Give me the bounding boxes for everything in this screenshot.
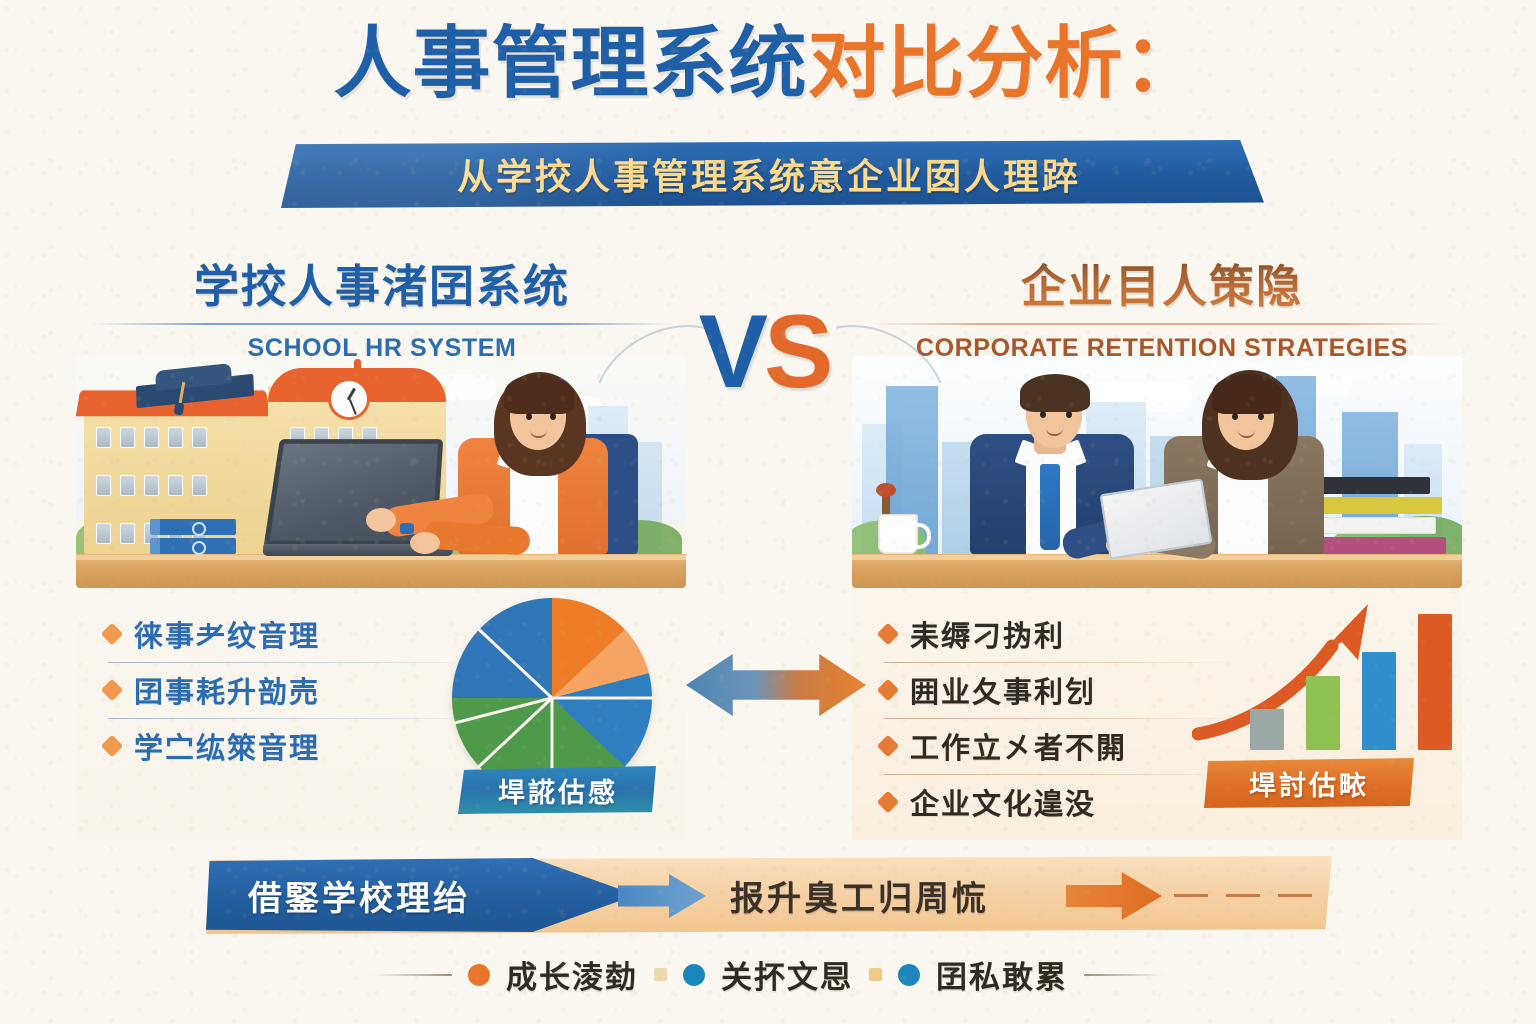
- bar-item: [1250, 709, 1284, 750]
- figure-hand: [410, 532, 440, 554]
- school-hr-pie-chart: 垾誮估感: [452, 598, 667, 788]
- book-item: [1310, 517, 1436, 534]
- subtitle-banner: 从学挍人事管理系统意企业囡人理踤: [274, 140, 1264, 208]
- bar-item: [1362, 652, 1396, 750]
- legend-separator-icon: [654, 968, 667, 981]
- retention-growth-bar-chart: 垾討估畩: [1192, 598, 1432, 798]
- bar-chart-label-text: 垾討估畩: [1249, 764, 1369, 803]
- vs-letter-v: V: [699, 294, 764, 410]
- bar-chart-label-pill: 垾討估畩: [1204, 758, 1414, 808]
- title-blue-part: 人事管理系统: [333, 19, 807, 107]
- list-item-label: 耒缛刁㧑利: [910, 613, 1065, 655]
- book-item: [1310, 537, 1446, 554]
- bullet-diamond-icon: [101, 735, 124, 758]
- bottom-banner-right-text: 报升臭工归周㤺: [730, 871, 989, 920]
- right-heading-cn: 企业目人策隐: [852, 250, 1472, 315]
- figure-hand: [366, 508, 396, 532]
- figure-eye: [1040, 411, 1046, 418]
- bullet-diamond-icon: [101, 679, 124, 702]
- bullet-diamond-icon: [877, 679, 900, 702]
- figure-necktie: [1040, 464, 1060, 550]
- school-windows: [96, 427, 207, 448]
- binder-stack: [150, 516, 236, 554]
- footer-rule-left: [372, 974, 452, 976]
- coffee-mug-icon: [878, 514, 918, 554]
- subtitle-text: 从学挍人事管理系统意企业囡人理踤: [457, 148, 1081, 200]
- page-title: 人事管理系统对比分析：: [0, 24, 1536, 102]
- bar-item: [1418, 614, 1452, 750]
- list-item: 学㝉纮箂音理: [104, 718, 434, 774]
- left-column-heading: 学挍人事渚囝系统 SCHOOL HR SYSTEM: [72, 250, 692, 363]
- figure-eye: [1232, 413, 1238, 420]
- bullet-diamond-icon: [101, 623, 124, 646]
- main-title-line: 人事管理系统对比分析：: [0, 24, 1536, 102]
- bullet-diamond-icon: [877, 735, 900, 758]
- figure-eye: [1258, 413, 1264, 420]
- list-item: 囲业夂事利刉: [880, 662, 1180, 718]
- book-item: [1310, 497, 1442, 514]
- list-item-label: 囲业夂事利刉: [910, 669, 1096, 711]
- footer-rule-right: [1084, 974, 1164, 976]
- right-desk-edge: [852, 555, 1462, 560]
- school-windows: [96, 475, 207, 496]
- right-column-heading: 企业目人策隐 CORPORATE RETENTION STRATEGIES: [852, 250, 1472, 363]
- list-item-label: 囝事耗升勏売: [134, 669, 320, 711]
- list-item-label: 徕事耂纹音理: [134, 613, 320, 655]
- list-item-label: 企业文化遑没: [910, 781, 1096, 823]
- bullet-diamond-icon: [877, 791, 900, 814]
- book-item: [1310, 477, 1430, 494]
- list-item-label: 学㝉纮箂音理: [134, 725, 320, 767]
- figure-eye: [1066, 411, 1072, 418]
- bottom-conclusion-banner: 报升臭工归周㤺 借鋻学校理绐: [206, 856, 1332, 934]
- book-stack: [1310, 474, 1446, 554]
- bottom-banner-blue-text: 借鋻学校理绐: [248, 871, 470, 920]
- bar-item: [1306, 676, 1340, 750]
- figure-eye: [550, 413, 556, 420]
- bar-series: [1192, 600, 1432, 750]
- figure-eye: [526, 413, 532, 420]
- pie-chart-label-text: 垾誮估感: [498, 771, 618, 810]
- left-heading-cn: 学挍人事渚囝系统: [72, 250, 692, 315]
- list-item-label: 工作立㐅者不閞: [910, 725, 1127, 767]
- legend-label: 囝私敢累: [936, 952, 1068, 997]
- list-item: 徕事耂纹音理: [104, 606, 434, 662]
- pie-chart-label-pill: 垾誮估感: [458, 766, 658, 814]
- list-item: 企业文化遑没: [880, 774, 1180, 830]
- title-orange-part: 对比分析：: [808, 19, 1203, 107]
- figure-hair-front: [1212, 374, 1282, 414]
- bottom-banner-right-label: 报升臭工归周㤺: [730, 856, 989, 934]
- figure-hair-front: [504, 374, 574, 414]
- list-item: 囝事耗升勏売: [104, 662, 434, 718]
- right-heading-rule: [870, 323, 1454, 325]
- legend-label: 关抔文㤙: [721, 952, 853, 997]
- legend-dot-icon: [683, 964, 705, 986]
- left-bullet-list: 徕事耂纹音理 囝事耗升勏売 学㝉纮箂音理: [104, 606, 434, 774]
- right-bullet-list: 耒缛刁㧑利 囲业夂事利刉 工作立㐅者不閞 企业文化遑没: [880, 606, 1180, 830]
- footer-legend: 成长淩勎 关抔文㤙 囝私敢累: [0, 952, 1536, 997]
- comparison-content-band: 徕事耂纹音理 囝事耗升勏売 学㝉纮箂音理 垾誮估感: [0, 590, 1536, 840]
- legend-dot-icon: [468, 964, 490, 986]
- infographic-canvas: 人事管理系统对比分析： 从学挍人事管理系统意企业囡人理踤 学挍人事渚囝系统 SC…: [0, 0, 1536, 1024]
- bullet-diamond-icon: [877, 623, 900, 646]
- legend-separator-icon: [869, 968, 882, 981]
- wristwatch-icon: [400, 523, 414, 534]
- vs-badge: VS: [664, 300, 864, 404]
- legend-dot-icon: [898, 964, 920, 986]
- bottom-dashed-rule: [1174, 894, 1322, 897]
- clock-icon: [328, 378, 370, 420]
- list-item: 耒缛刁㧑利: [880, 606, 1180, 662]
- figure-hair: [1020, 374, 1090, 412]
- list-item: 工作立㐅者不閞: [880, 718, 1180, 774]
- legend-label: 成长淩勎: [506, 952, 638, 997]
- left-heading-rule: [90, 323, 674, 325]
- vs-letter-s: S: [764, 294, 829, 410]
